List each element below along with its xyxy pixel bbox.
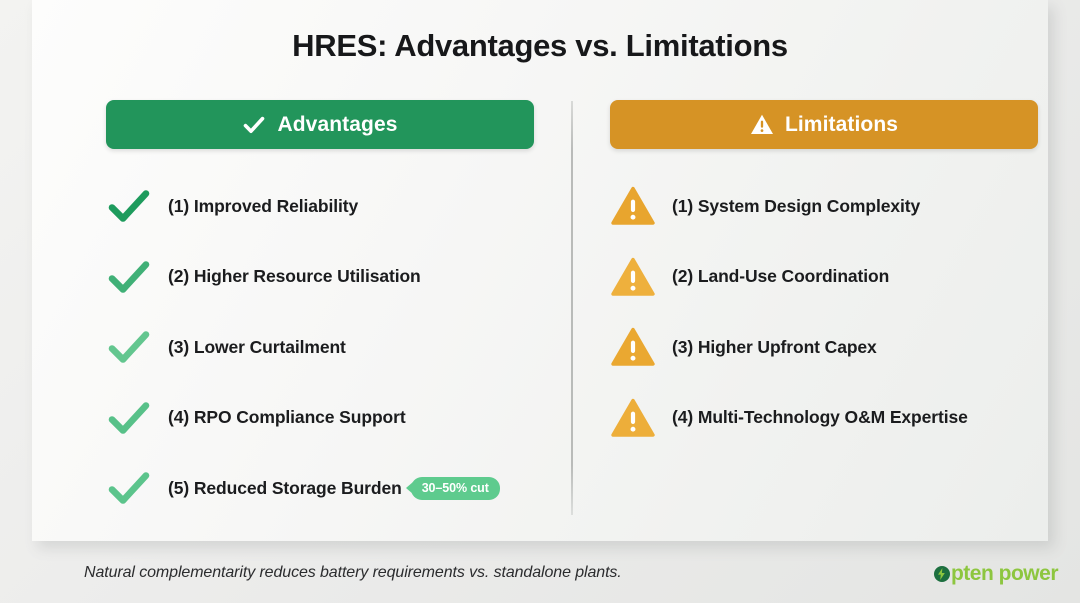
list-item-label: (1) System Design Complexity <box>672 196 920 217</box>
list-item-text: (4) Multi-Technology O&M Expertise <box>672 407 968 428</box>
list-item-text: (3) Higher Upfront Capex <box>672 337 877 358</box>
slide-card: HRES: Advantages vs. Limitations Advanta… <box>32 0 1048 541</box>
list-item[interactable]: (3) Higher Upfront Capex <box>610 312 1038 383</box>
check-icon <box>242 113 266 137</box>
list-item-text: (2) Land-Use Coordination <box>672 266 889 287</box>
column-advantages: Advantages (1) Improved Reliability <box>106 100 534 524</box>
list-item[interactable]: (5) Reduced Storage Burden 30–50% cut <box>106 453 534 524</box>
check-icon <box>106 324 152 370</box>
brand-logo-text: pten power <box>951 562 1058 586</box>
warning-triangle-icon <box>610 183 656 229</box>
column-divider <box>571 101 573 515</box>
list-item-text: (3) Lower Curtailment <box>168 337 346 358</box>
status-badge: 30–50% cut <box>411 477 500 500</box>
check-icon <box>106 395 152 441</box>
header-limitations-label: Limitations <box>785 113 898 137</box>
list-item-text: (1) System Design Complexity <box>672 196 920 217</box>
list-item-label: (4) RPO Compliance Support <box>168 407 406 428</box>
list-item[interactable]: (1) Improved Reliability <box>106 171 534 242</box>
header-advantages: Advantages <box>106 100 534 149</box>
column-limitations: Limitations (1) System Design Complexity <box>610 100 1038 453</box>
list-item[interactable]: (4) RPO Compliance Support <box>106 383 534 454</box>
list-item-text: (2) Higher Resource Utilisation <box>168 266 421 287</box>
check-icon <box>106 254 152 300</box>
list-item-label: (2) Higher Resource Utilisation <box>168 266 421 287</box>
page-title: HRES: Advantages vs. Limitations <box>32 28 1048 64</box>
check-icon <box>106 465 152 511</box>
header-advantages-label: Advantages <box>277 113 397 137</box>
list-item-text: (4) RPO Compliance Support <box>168 407 406 428</box>
list-item-label: (3) Higher Upfront Capex <box>672 337 877 358</box>
advantages-item-list: (1) Improved Reliability (2) Higher Reso… <box>106 171 534 524</box>
warning-triangle-icon <box>610 324 656 370</box>
limitations-item-list: (1) System Design Complexity (2) Land-Us… <box>610 171 1038 453</box>
brand-logo: pten power <box>933 562 1058 586</box>
list-item[interactable]: (1) System Design Complexity <box>610 171 1038 242</box>
list-item-text: (1) Improved Reliability <box>168 196 358 217</box>
list-item[interactable]: (2) Land-Use Coordination <box>610 242 1038 313</box>
check-icon <box>106 183 152 229</box>
list-item-label: (4) Multi-Technology O&M Expertise <box>672 407 968 428</box>
list-item[interactable]: (2) Higher Resource Utilisation <box>106 242 534 313</box>
warning-triangle-icon <box>610 395 656 441</box>
header-limitations: Limitations <box>610 100 1038 149</box>
list-item[interactable]: (4) Multi-Technology O&M Expertise <box>610 383 1038 454</box>
footer-note: Natural complementarity reduces battery … <box>84 564 622 582</box>
warning-triangle-icon <box>750 113 774 136</box>
lightning-bolt-icon <box>934 566 950 582</box>
list-item-label: (1) Improved Reliability <box>168 196 358 217</box>
list-item-label: (3) Lower Curtailment <box>168 337 346 358</box>
warning-triangle-icon <box>610 254 656 300</box>
list-item-label: (2) Land-Use Coordination <box>672 266 889 287</box>
list-item-label: (5) Reduced Storage Burden <box>168 478 402 499</box>
list-item[interactable]: (3) Lower Curtailment <box>106 312 534 383</box>
list-item-text: (5) Reduced Storage Burden 30–50% cut <box>168 477 500 500</box>
